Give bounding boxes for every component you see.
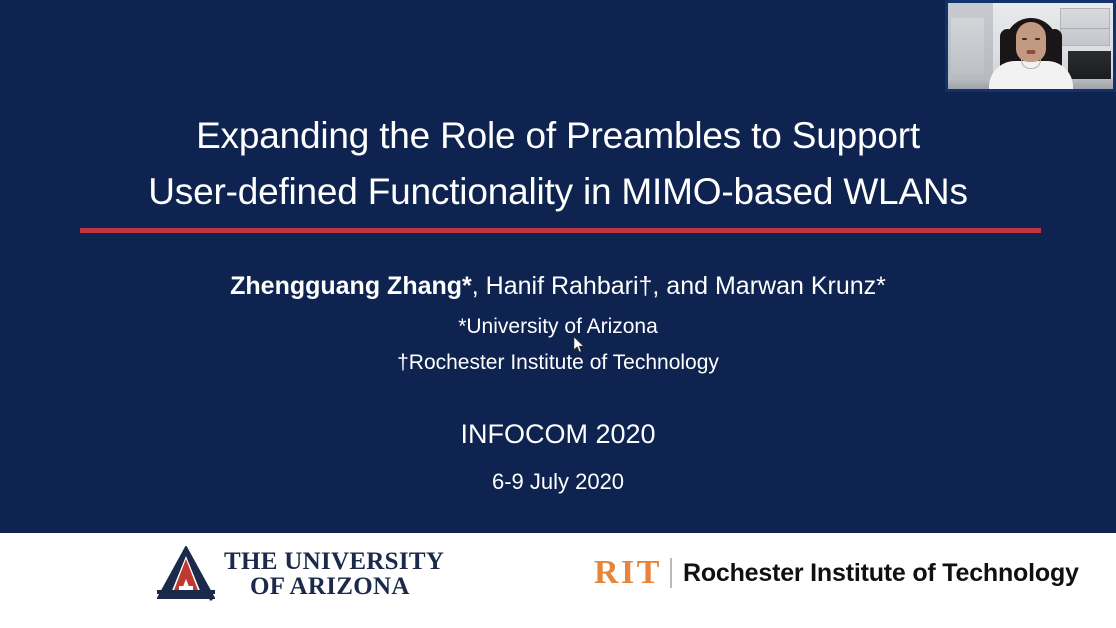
presentation-slide: Expanding the Role of Preambles to Suppo… <box>0 0 1116 628</box>
conference-date: 6-9 July 2020 <box>0 467 1116 497</box>
presenter-webcam-video[interactable] <box>945 0 1116 92</box>
title-divider-rule <box>80 228 1041 233</box>
university-of-arizona-logo: THE UNIVERSITY OF ARIZONA <box>157 545 444 603</box>
rit-logo: RIT Rochester Institute of Technology <box>594 556 1079 590</box>
webcam-person-mouth <box>1026 50 1035 54</box>
arizona-block-a-icon <box>157 546 215 602</box>
arizona-wordmark-line-1: THE UNIVERSITY <box>224 549 444 574</box>
webcam-cabinet <box>1060 8 1110 46</box>
title-line-1: Expanding the Role of Preambles to Suppo… <box>0 108 1116 164</box>
lead-author-name: Zhengguang Zhang* <box>230 272 472 300</box>
webcam-panel-left <box>951 18 984 75</box>
affiliation-2: †Rochester Institute of Technology <box>0 349 1116 377</box>
arizona-wordmark: THE UNIVERSITY OF ARIZONA <box>224 549 444 599</box>
rit-wordmark: RIT <box>594 556 662 590</box>
rit-full-name: Rochester Institute of Technology <box>683 559 1079 587</box>
title-line-2: User-defined Functionality in MIMO-based… <box>0 164 1116 220</box>
arizona-wordmark-line-2: OF ARIZONA <box>224 574 444 599</box>
rit-divider <box>670 558 672 588</box>
webcam-person-face <box>1016 22 1046 62</box>
conference-name: INFOCOM 2020 <box>0 417 1116 451</box>
affiliation-1: *University of Arizona <box>0 313 1116 341</box>
slide-title: Expanding the Role of Preambles to Suppo… <box>0 108 1116 220</box>
coauthor-names: , Hanif Rahbari†, and Marwan Krunz* <box>472 272 886 300</box>
author-line: Zhengguang Zhang*, Hanif Rahbari†, and M… <box>0 268 1116 304</box>
webcam-person-eye-left <box>1022 38 1027 40</box>
webcam-person-eye-right <box>1035 38 1040 40</box>
webcam-scene <box>948 3 1113 89</box>
